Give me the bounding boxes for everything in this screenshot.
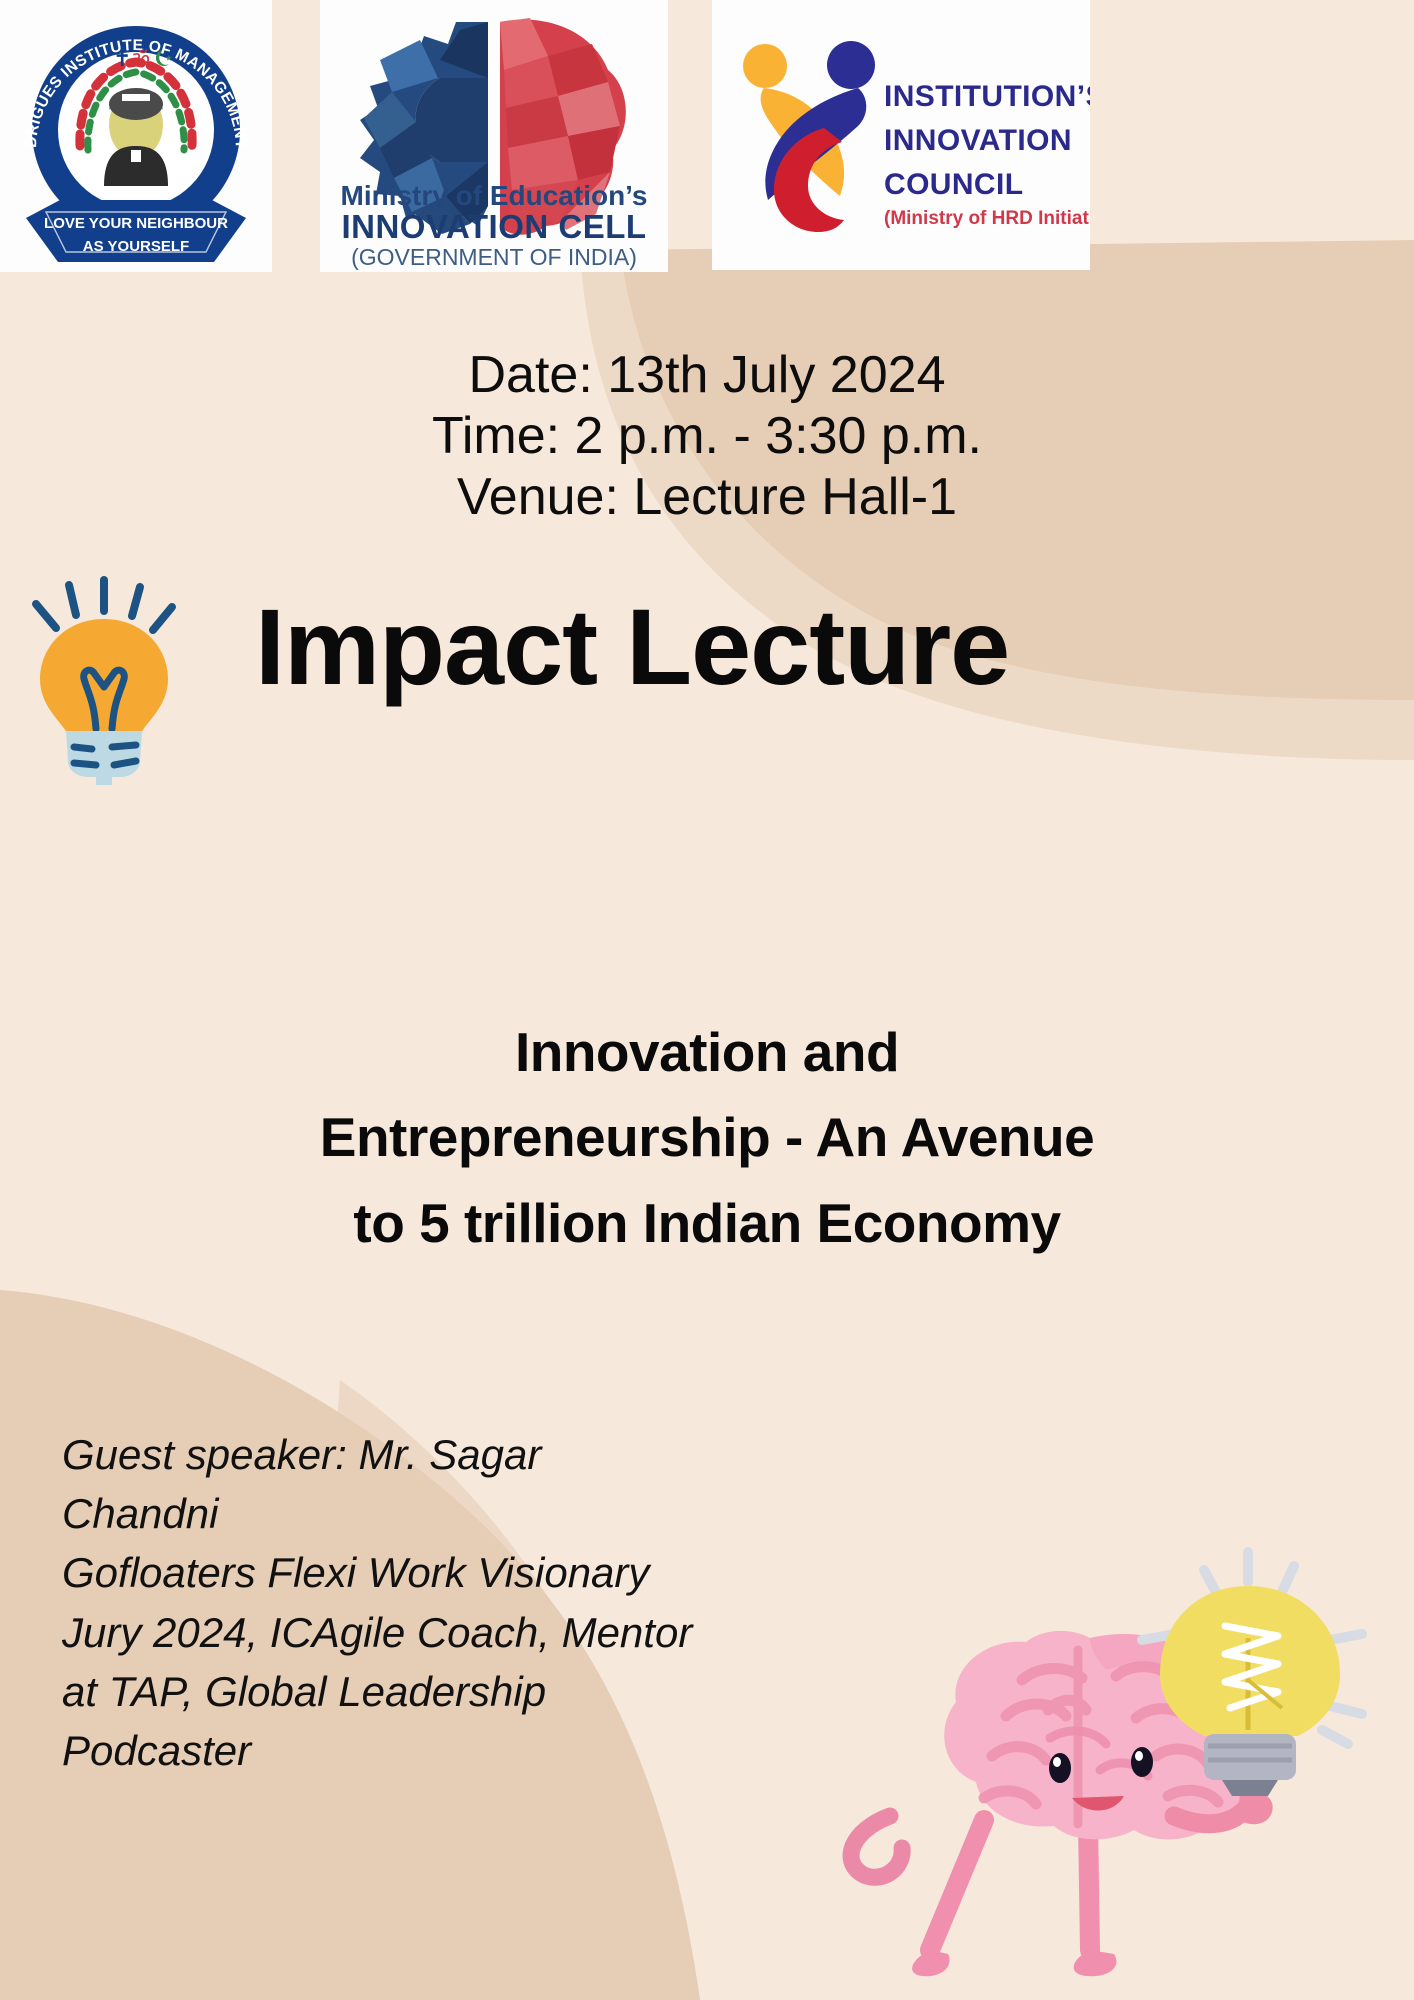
speaker-line-4: Jury 2024, ICAgile Coach, Mentor — [62, 1603, 822, 1662]
logo-card-institute: ✝ ॐ ☪ FR. C. RODRIGUES INSTITUTE OF MANA… — [0, 0, 272, 272]
logo-card-innovation-cell: Ministry of Education’s INNOVATION CELL … — [320, 0, 668, 272]
iic-line4: (Ministry of HRD Initiative) — [884, 208, 1090, 229]
lecture-topic-block: Innovation and Entrepreneurship - An Ave… — [70, 1010, 1344, 1266]
page-title: Impact Lecture — [255, 593, 1009, 701]
event-date: Date: 13th July 2024 — [0, 345, 1414, 406]
speaker-line-6: Podcaster — [62, 1721, 822, 1780]
topic-line-3: to 5 trillion Indian Economy — [70, 1181, 1344, 1266]
institute-motto-line2: AS YOURSELF — [83, 238, 189, 255]
speaker-line-3: Gofloaters Flexi Work Visionary — [62, 1543, 822, 1602]
institute-motto-line1: LOVE YOUR NEIGHBOUR — [44, 215, 228, 232]
ministry-of-education-innovation-cell-logo: Ministry of Education’s INNOVATION CELL … — [320, 0, 668, 272]
headline-row: Impact Lecture — [0, 575, 1414, 785]
event-time: Time: 2 p.m. - 3:30 p.m. — [0, 406, 1414, 467]
institutions-innovation-council-logo: INSTITUTION’S INNOVATION COUNCIL (Minist… — [712, 0, 1090, 270]
event-venue: Venue: Lecture Hall-1 — [0, 467, 1414, 528]
topic-line-1: Innovation and — [70, 1010, 1344, 1095]
iic-line2: INNOVATION — [884, 124, 1072, 157]
lightbulb-icon — [12, 575, 197, 785]
iic-line1: INSTITUTION’S — [884, 80, 1090, 113]
logo-card-iic: INSTITUTION’S INNOVATION COUNCIL (Minist… — [712, 0, 1090, 270]
brain-right-hand — [1238, 1791, 1273, 1824]
brain-left-arm — [851, 1816, 902, 1877]
poster-canvas: ✝ ॐ ☪ FR. C. RODRIGUES INSTITUTE OF MANA… — [0, 0, 1414, 2000]
speaker-line-2: Chandni — [62, 1484, 822, 1543]
fr-c-rodrigues-institute-logo: ✝ ॐ ☪ FR. C. RODRIGUES INSTITUTE OF MANA… — [0, 0, 272, 272]
iic-line3: COUNCIL — [884, 168, 1023, 201]
speaker-line-5: at TAP, Global Leadership — [62, 1662, 822, 1721]
brain-with-lightbulb-illustration — [770, 1530, 1410, 2000]
brain-legs — [912, 1820, 1116, 1976]
logo-strip: ✝ ॐ ☪ FR. C. RODRIGUES INSTITUTE OF MANA… — [0, 0, 1414, 272]
event-details-block: Date: 13th July 2024 Time: 2 p.m. - 3:30… — [0, 345, 1414, 527]
innovation-cell-line1: Ministry of Education’s — [341, 180, 648, 211]
speaker-info-block: Guest speaker: Mr. Sagar Chandni Gofloat… — [62, 1425, 822, 1780]
speaker-line-1: Guest speaker: Mr. Sagar — [62, 1425, 822, 1484]
innovation-cell-line3: (GOVERNMENT OF INDIA) — [351, 244, 637, 270]
innovation-cell-line2: INNOVATION CELL — [341, 208, 646, 245]
topic-line-2: Entrepreneurship - An Avenue — [70, 1095, 1344, 1180]
